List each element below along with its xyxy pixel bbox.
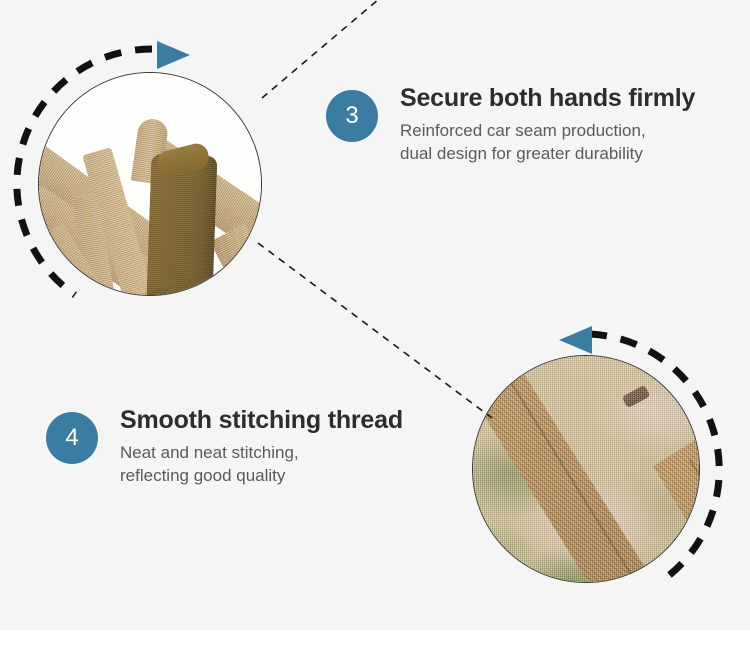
- feature-body-3: Reinforced car seam production, dual des…: [400, 119, 716, 166]
- feature-body-4-line-1: Neat and neat stitching,: [120, 441, 436, 464]
- reinforcement-tab: [147, 154, 218, 296]
- camo-photo-art: [473, 356, 699, 582]
- fabric-weave-texture: [473, 356, 699, 582]
- feature-body-4: Neat and neat stitching, reflecting good…: [120, 441, 436, 488]
- feature-body-4-line-2: reflecting good quality: [120, 464, 436, 487]
- feature-title-3: Secure both hands firmly: [400, 84, 716, 113]
- feature-number-badge-3: 3: [326, 90, 378, 142]
- feature-body-3-line-1: Reinforced car seam production,: [400, 119, 716, 142]
- infographic-panel: 3 Secure both hands firmly Reinforced ca…: [0, 0, 750, 672]
- photo-handles-closeup: [38, 72, 262, 296]
- feature-body-3-line-2: dual design for greater durability: [400, 142, 716, 165]
- feature-title-4: Smooth stitching thread: [120, 406, 436, 435]
- photo-camo-stitching-closeup: [472, 355, 700, 583]
- feature-text-3: Secure both hands firmly Reinforced car …: [400, 84, 716, 166]
- feature-text-4: Smooth stitching thread Neat and neat st…: [120, 406, 436, 488]
- handles-photo-art: [39, 73, 261, 295]
- feature-number-badge-4: 4: [46, 412, 98, 464]
